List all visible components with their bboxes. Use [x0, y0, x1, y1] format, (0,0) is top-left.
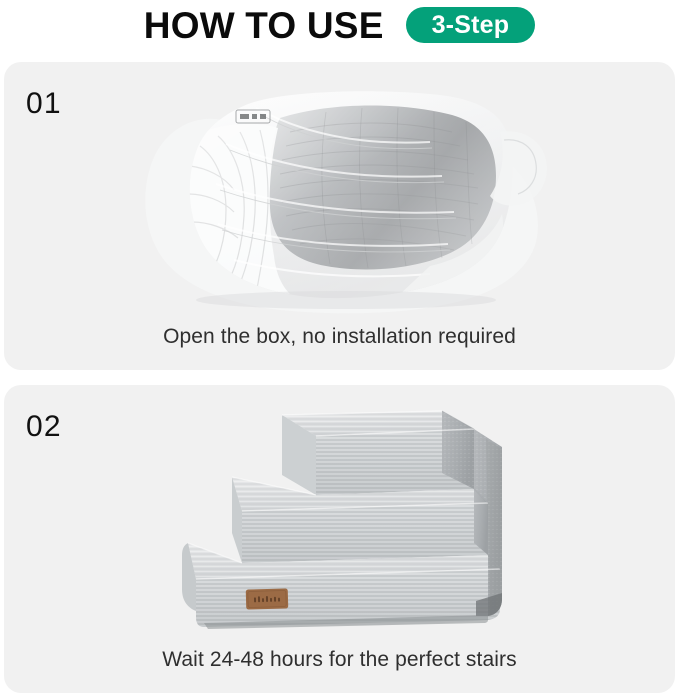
brand-tag-icon [245, 588, 288, 609]
vacuum-sealed-foam-bag-photo [130, 84, 550, 316]
step-number-02: 02 [26, 412, 62, 442]
page-title: HOW TO USE [144, 7, 384, 44]
step-card-02: 02 [4, 385, 675, 693]
grey-foam-pet-stairs-photo [170, 403, 510, 633]
step-count-badge: 3-Step [406, 7, 536, 43]
step-number-01: 01 [26, 89, 62, 119]
step-caption-01: Open the box, no installation required [4, 325, 675, 349]
step-caption-02: Wait 24-48 hours for the perfect stairs [4, 648, 675, 672]
step-card-01: 01 [4, 62, 675, 370]
page-header: HOW TO USE 3-Step [0, 0, 679, 50]
